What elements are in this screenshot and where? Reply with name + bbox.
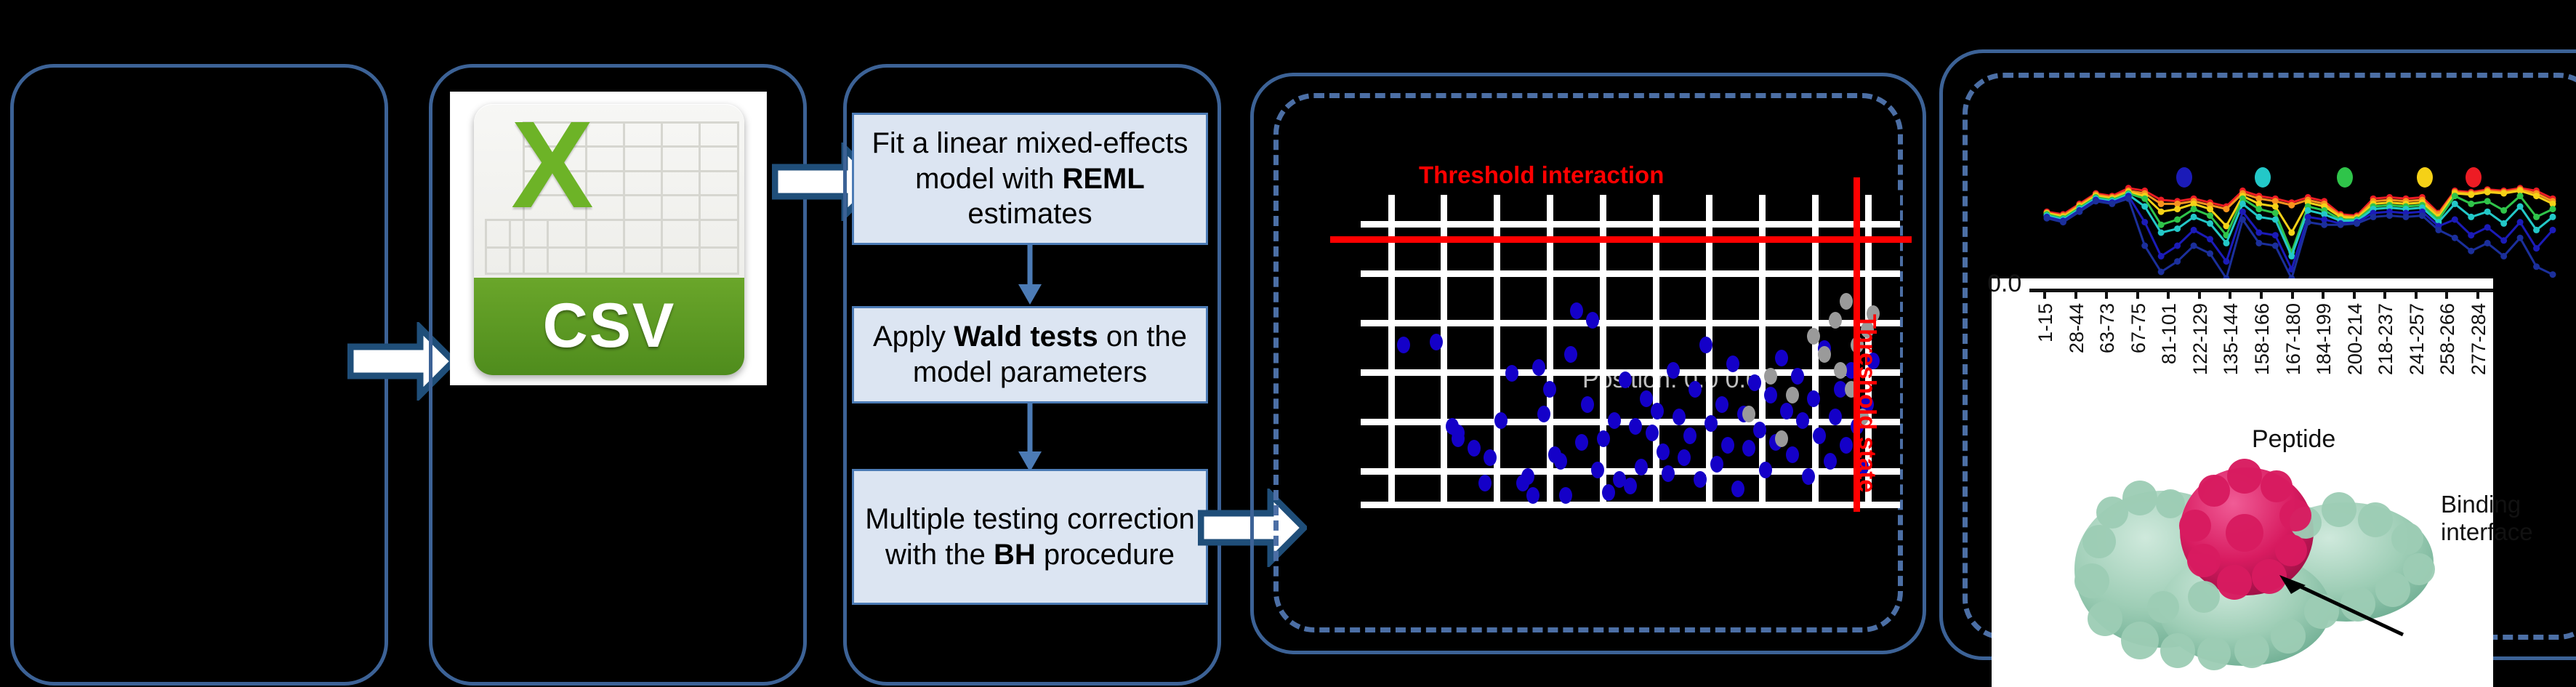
peptide-series-marker bbox=[2191, 243, 2197, 249]
peptide-series-marker bbox=[2452, 193, 2458, 199]
peptide-series-marker bbox=[2272, 204, 2279, 210]
scatter-point bbox=[1570, 302, 1583, 319]
scatter-point bbox=[1786, 446, 1799, 463]
scatter-point bbox=[1780, 403, 1793, 419]
peptide-series-marker bbox=[2223, 240, 2229, 246]
scatter-point bbox=[1683, 427, 1696, 444]
scatter-point bbox=[1748, 374, 1761, 391]
scatter-point bbox=[1468, 440, 1481, 457]
peptide-series-marker bbox=[2207, 250, 2213, 257]
x-axis-tick-label: 28-44 bbox=[2066, 303, 2088, 353]
scatter-point bbox=[1478, 475, 1492, 491]
peptide-series-marker bbox=[2484, 198, 2491, 204]
x-axis-tick bbox=[2260, 289, 2263, 299]
x-axis-title: Peptide bbox=[2252, 425, 2335, 454]
peptide-series-marker bbox=[2435, 227, 2442, 233]
scatter-point bbox=[1564, 346, 1577, 363]
scatter-point bbox=[1731, 481, 1744, 497]
scatter-point bbox=[1813, 427, 1826, 444]
scatter-point bbox=[1543, 381, 1556, 398]
scatter-point bbox=[1608, 412, 1621, 429]
scatter-point bbox=[1802, 468, 1815, 485]
csv-format-label: CSV bbox=[474, 278, 744, 375]
peptide-series-marker bbox=[2223, 258, 2229, 265]
peptide-series-marker bbox=[2207, 212, 2213, 219]
x-axis-tick-label: 218-237 bbox=[2375, 303, 2397, 375]
peptide-series-marker bbox=[2044, 215, 2050, 222]
scatter-point bbox=[1834, 362, 1847, 379]
peptide-series-svg bbox=[2042, 145, 2559, 291]
step-model-text: Fit a linear mixed-effects model with RE… bbox=[861, 126, 1199, 232]
scatter-point bbox=[1484, 449, 1497, 466]
peptide-series-marker bbox=[2338, 222, 2344, 228]
peptide-series-marker bbox=[2533, 227, 2540, 233]
panel-input[interactable] bbox=[10, 64, 388, 686]
peptide-series-marker bbox=[2500, 253, 2507, 260]
peptide-series-marker bbox=[2468, 214, 2474, 220]
scatter-point bbox=[1721, 437, 1734, 454]
peptide-series-marker bbox=[2354, 220, 2360, 227]
legend-dot-teal bbox=[2255, 167, 2271, 188]
x-axis-tick-label: 277-284 bbox=[2468, 303, 2490, 375]
peptide-series-marker bbox=[2191, 206, 2197, 212]
peptide-series-marker bbox=[2158, 201, 2165, 207]
peptide-series-marker bbox=[2191, 214, 2197, 220]
peptide-tick-labels: 1-1528-4463-7367-7581-101122-129135-1441… bbox=[2029, 294, 2493, 417]
scatter-point bbox=[1699, 337, 1712, 353]
csv-file-card: X CSV bbox=[451, 92, 766, 385]
x-axis-tick bbox=[2198, 289, 2201, 299]
scatter-point bbox=[1791, 368, 1804, 385]
scatter-point bbox=[1667, 362, 1680, 379]
peptide-series-marker bbox=[2402, 214, 2409, 220]
peptide-figure-card: 0.0 1-1528-4463-7367-7581-101122-129135-… bbox=[1992, 278, 2493, 687]
scatter-point bbox=[1753, 422, 1766, 438]
scatter-point bbox=[1452, 425, 1465, 441]
scatter-point bbox=[1764, 387, 1777, 403]
step-wald-box[interactable]: Apply Wald tests on the model parameters bbox=[852, 306, 1208, 403]
peptide-series-marker bbox=[2517, 204, 2524, 210]
peptide-series-marker bbox=[2141, 243, 2148, 249]
x-axis-tick-label: 258-266 bbox=[2436, 303, 2459, 375]
peptide-series-marker bbox=[2484, 209, 2491, 215]
scatter-point bbox=[1764, 368, 1777, 385]
peptide-series-marker bbox=[2158, 230, 2165, 236]
scatter-point bbox=[1505, 365, 1518, 382]
scatter-point bbox=[1775, 430, 1788, 447]
peptide-series-line bbox=[2047, 198, 2553, 278]
peptide-series-marker bbox=[2255, 206, 2262, 212]
scatter-point bbox=[1586, 312, 1599, 329]
peptide-series-marker bbox=[2191, 227, 2197, 233]
scatter-point bbox=[1554, 453, 1567, 470]
scatter-point bbox=[1646, 425, 1659, 441]
scatter-point bbox=[1494, 412, 1508, 429]
peptide-series-marker bbox=[2468, 232, 2474, 238]
scatter-point bbox=[1726, 355, 1739, 372]
x-axis-tick bbox=[2322, 289, 2325, 299]
peptide-series-marker bbox=[2141, 219, 2148, 225]
scatter-point bbox=[1678, 449, 1691, 466]
peptide-series-marker bbox=[2321, 222, 2327, 228]
scatter-point bbox=[1715, 396, 1728, 413]
peptide-series-marker bbox=[2517, 193, 2524, 199]
scatter-point bbox=[1624, 478, 1637, 494]
workflow-diagram: X CSV Fit a linear mixed-effects model w… bbox=[0, 0, 2576, 687]
scatter-point bbox=[1759, 462, 1772, 478]
scatter-point bbox=[1640, 390, 1653, 407]
peptide-series-marker bbox=[2305, 207, 2311, 214]
legend-dot-green bbox=[2337, 167, 2353, 188]
peptide-series-marker bbox=[2468, 248, 2474, 254]
scatter-point bbox=[1629, 418, 1642, 435]
peptide-series-marker bbox=[2517, 219, 2524, 225]
peptide-series-marker bbox=[2484, 224, 2491, 230]
peptide-series-marker bbox=[2533, 193, 2540, 199]
peptide-series-marker bbox=[2533, 263, 2540, 270]
scatter-point bbox=[1597, 430, 1610, 447]
x-axis-tick bbox=[2445, 289, 2448, 299]
threshold-state-label: Threshold state bbox=[1853, 314, 1881, 493]
peptide-series-marker bbox=[2500, 190, 2507, 197]
peptide-series-marker bbox=[2484, 240, 2491, 246]
connector-wald-to-correction bbox=[1013, 403, 1047, 473]
x-axis-tick bbox=[2043, 289, 2046, 299]
scatter-point bbox=[1397, 337, 1410, 353]
peptide-series-marker bbox=[2272, 210, 2279, 217]
peptide-series-marker bbox=[2141, 196, 2148, 202]
scatter-point bbox=[1689, 381, 1702, 398]
scatter-point bbox=[1710, 456, 1723, 473]
scatter-point bbox=[1786, 387, 1799, 403]
x-axis-tick bbox=[2353, 289, 2356, 299]
scatter-point bbox=[1575, 434, 1588, 451]
x-axis-tick-label: 81-101 bbox=[2158, 303, 2181, 364]
peptide-series-marker bbox=[2239, 201, 2246, 207]
peptide-series-marker bbox=[2550, 227, 2556, 233]
scatter-point bbox=[1526, 487, 1539, 504]
scatter-point bbox=[1651, 403, 1664, 419]
peptide-series-marker bbox=[2272, 243, 2279, 249]
x-axis-tick-label: 167-180 bbox=[2282, 303, 2305, 375]
legend-dot-red bbox=[2466, 167, 2482, 188]
peptide-series-marker bbox=[2239, 209, 2246, 215]
legend-dot-yellow bbox=[2417, 167, 2433, 188]
x-axis-tick bbox=[2229, 289, 2231, 299]
connector-model-to-wald bbox=[1013, 245, 1047, 306]
scatter-point bbox=[1807, 390, 1820, 407]
x-axis-tick bbox=[2291, 289, 2294, 299]
peptide-series-marker bbox=[2500, 237, 2507, 244]
step-correction-text: Multiple testing correctionwith the BH p… bbox=[865, 502, 1195, 573]
peptide-series-marker bbox=[2125, 196, 2132, 202]
volcano-scatter-plot: Position: 0.0 0.0 bbox=[1361, 195, 1900, 507]
scatter-point bbox=[1430, 334, 1443, 350]
peptide-series-marker bbox=[2174, 206, 2181, 212]
peptide-series-marker bbox=[2093, 198, 2099, 204]
scatter-point bbox=[1742, 440, 1755, 457]
csv-file-icon[interactable]: X CSV bbox=[474, 104, 744, 375]
x-axis-tick-label: 158-166 bbox=[2251, 303, 2274, 375]
y-axis-zero-label: 0.0 bbox=[1987, 270, 2021, 298]
peptide-series-marker bbox=[2255, 214, 2262, 220]
protein-surface-structure bbox=[2061, 453, 2439, 671]
step-correction-box[interactable]: Multiple testing correctionwith the BH p… bbox=[852, 469, 1208, 605]
scatter-point bbox=[1694, 471, 1707, 488]
x-axis-tick-label: 67-75 bbox=[2128, 303, 2150, 353]
scatter-point bbox=[1657, 443, 1670, 460]
peptide-series-marker bbox=[2500, 220, 2507, 227]
x-axis-tick bbox=[2476, 289, 2479, 299]
scatter-point bbox=[1840, 293, 1853, 310]
excel-x-glyph: X bbox=[482, 107, 622, 275]
scatter-point bbox=[1521, 468, 1534, 485]
peptide-series-marker bbox=[2272, 217, 2279, 223]
scatter-point bbox=[1829, 312, 1842, 329]
scatter-point bbox=[1532, 359, 1545, 376]
peptide-series-marker bbox=[2141, 204, 2148, 210]
x-axis-tick-label: 241-257 bbox=[2406, 303, 2428, 375]
peptide-series-marker bbox=[2288, 230, 2295, 236]
x-axis-tick-label: 135-144 bbox=[2220, 303, 2242, 375]
peptide-series-marker bbox=[2550, 206, 2556, 212]
peptide-series-marker bbox=[2452, 217, 2458, 223]
peptide-series-marker bbox=[2452, 201, 2458, 207]
scatter-point bbox=[1818, 346, 1831, 363]
peptide-series-marker bbox=[2239, 217, 2246, 223]
scatter-point bbox=[1704, 415, 1718, 432]
peptide-series-marker bbox=[2174, 258, 2181, 265]
peptide-series-marker bbox=[2419, 212, 2426, 219]
scatter-point bbox=[1840, 437, 1853, 454]
peptide-series-marker bbox=[2500, 207, 2507, 214]
x-axis-tick bbox=[2105, 289, 2108, 299]
x-axis-tick bbox=[2074, 289, 2077, 299]
peptide-series-marker bbox=[2484, 189, 2491, 196]
peptide-series-marker bbox=[2207, 206, 2213, 212]
scatter-point bbox=[1829, 409, 1842, 425]
peptide-series-marker bbox=[2255, 240, 2262, 246]
scatter-point bbox=[1581, 396, 1594, 413]
x-axis-tick-label: 184-199 bbox=[2313, 303, 2335, 375]
peptide-series-marker bbox=[2223, 206, 2229, 212]
peptide-series-marker bbox=[2158, 209, 2165, 215]
x-axis-tick-label: 122-129 bbox=[2189, 303, 2212, 375]
peptide-series-marker bbox=[2255, 230, 2262, 236]
scatter-point bbox=[1619, 371, 1632, 388]
threshold-interaction-line bbox=[1330, 236, 1912, 243]
scatter-point bbox=[1824, 453, 1837, 470]
peptide-series-marker bbox=[2305, 219, 2311, 225]
scatter-point bbox=[1775, 350, 1788, 366]
peptide-series-marker bbox=[2370, 214, 2377, 220]
scatter-point bbox=[1742, 406, 1755, 422]
scatter-point bbox=[1662, 465, 1675, 482]
threshold-interaction-label: Threshold interaction bbox=[1419, 161, 1664, 189]
peptide-series-marker bbox=[2533, 214, 2540, 220]
x-axis-tick bbox=[2136, 289, 2139, 299]
x-axis-tick bbox=[2167, 289, 2170, 299]
scatter-point bbox=[1537, 406, 1550, 422]
peptide-series-marker bbox=[2533, 245, 2540, 252]
scatter-point bbox=[1559, 487, 1572, 504]
x-axis-tick bbox=[2415, 289, 2418, 299]
peptide-series-marker bbox=[2207, 236, 2213, 243]
scatter-point bbox=[1602, 484, 1615, 501]
scatter-point bbox=[1591, 462, 1604, 478]
scatter-point bbox=[1796, 412, 1809, 429]
step-wald-text: Apply Wald tests on the model parameters bbox=[861, 319, 1199, 390]
peptide-series-marker bbox=[2550, 214, 2556, 220]
peptide-series-marker bbox=[2468, 191, 2474, 198]
peptide-series-marker bbox=[2386, 212, 2393, 219]
peptide-series-marker bbox=[2158, 269, 2165, 276]
peptide-series-marker bbox=[2272, 232, 2279, 238]
x-axis-tick-label: 200-214 bbox=[2344, 303, 2367, 375]
legend-dot-blue bbox=[2176, 167, 2192, 188]
peptide-series-marker bbox=[2288, 202, 2295, 209]
x-axis-tick-label: 63-73 bbox=[2096, 303, 2119, 353]
peptide-series-marker bbox=[2550, 271, 2556, 278]
peptide-series-marker bbox=[2452, 235, 2458, 241]
peptide-series-marker bbox=[2517, 235, 2524, 241]
peptide-line-chart bbox=[2042, 145, 2559, 291]
peptide-series-marker bbox=[2174, 217, 2181, 223]
scatter-point bbox=[1673, 409, 1686, 425]
peptide-series-marker bbox=[2174, 225, 2181, 232]
step-model-box[interactable]: Fit a linear mixed-effects model with RE… bbox=[852, 113, 1208, 245]
peptide-series-marker bbox=[2109, 201, 2115, 207]
x-axis-tick bbox=[2383, 289, 2386, 299]
x-axis-tick-label: 1-15 bbox=[2034, 303, 2057, 342]
binding-interface-label: Binding interface bbox=[2441, 491, 2533, 546]
peptide-series-marker bbox=[2158, 253, 2165, 260]
peptide-series-marker bbox=[2468, 201, 2474, 207]
scatter-point bbox=[1635, 459, 1648, 475]
peptide-series-marker bbox=[2207, 220, 2213, 227]
peptide-series-marker bbox=[2076, 209, 2082, 215]
peptide-series-marker bbox=[2174, 243, 2181, 249]
peptide-series-marker bbox=[2060, 219, 2066, 225]
scatter-point bbox=[1807, 328, 1820, 345]
